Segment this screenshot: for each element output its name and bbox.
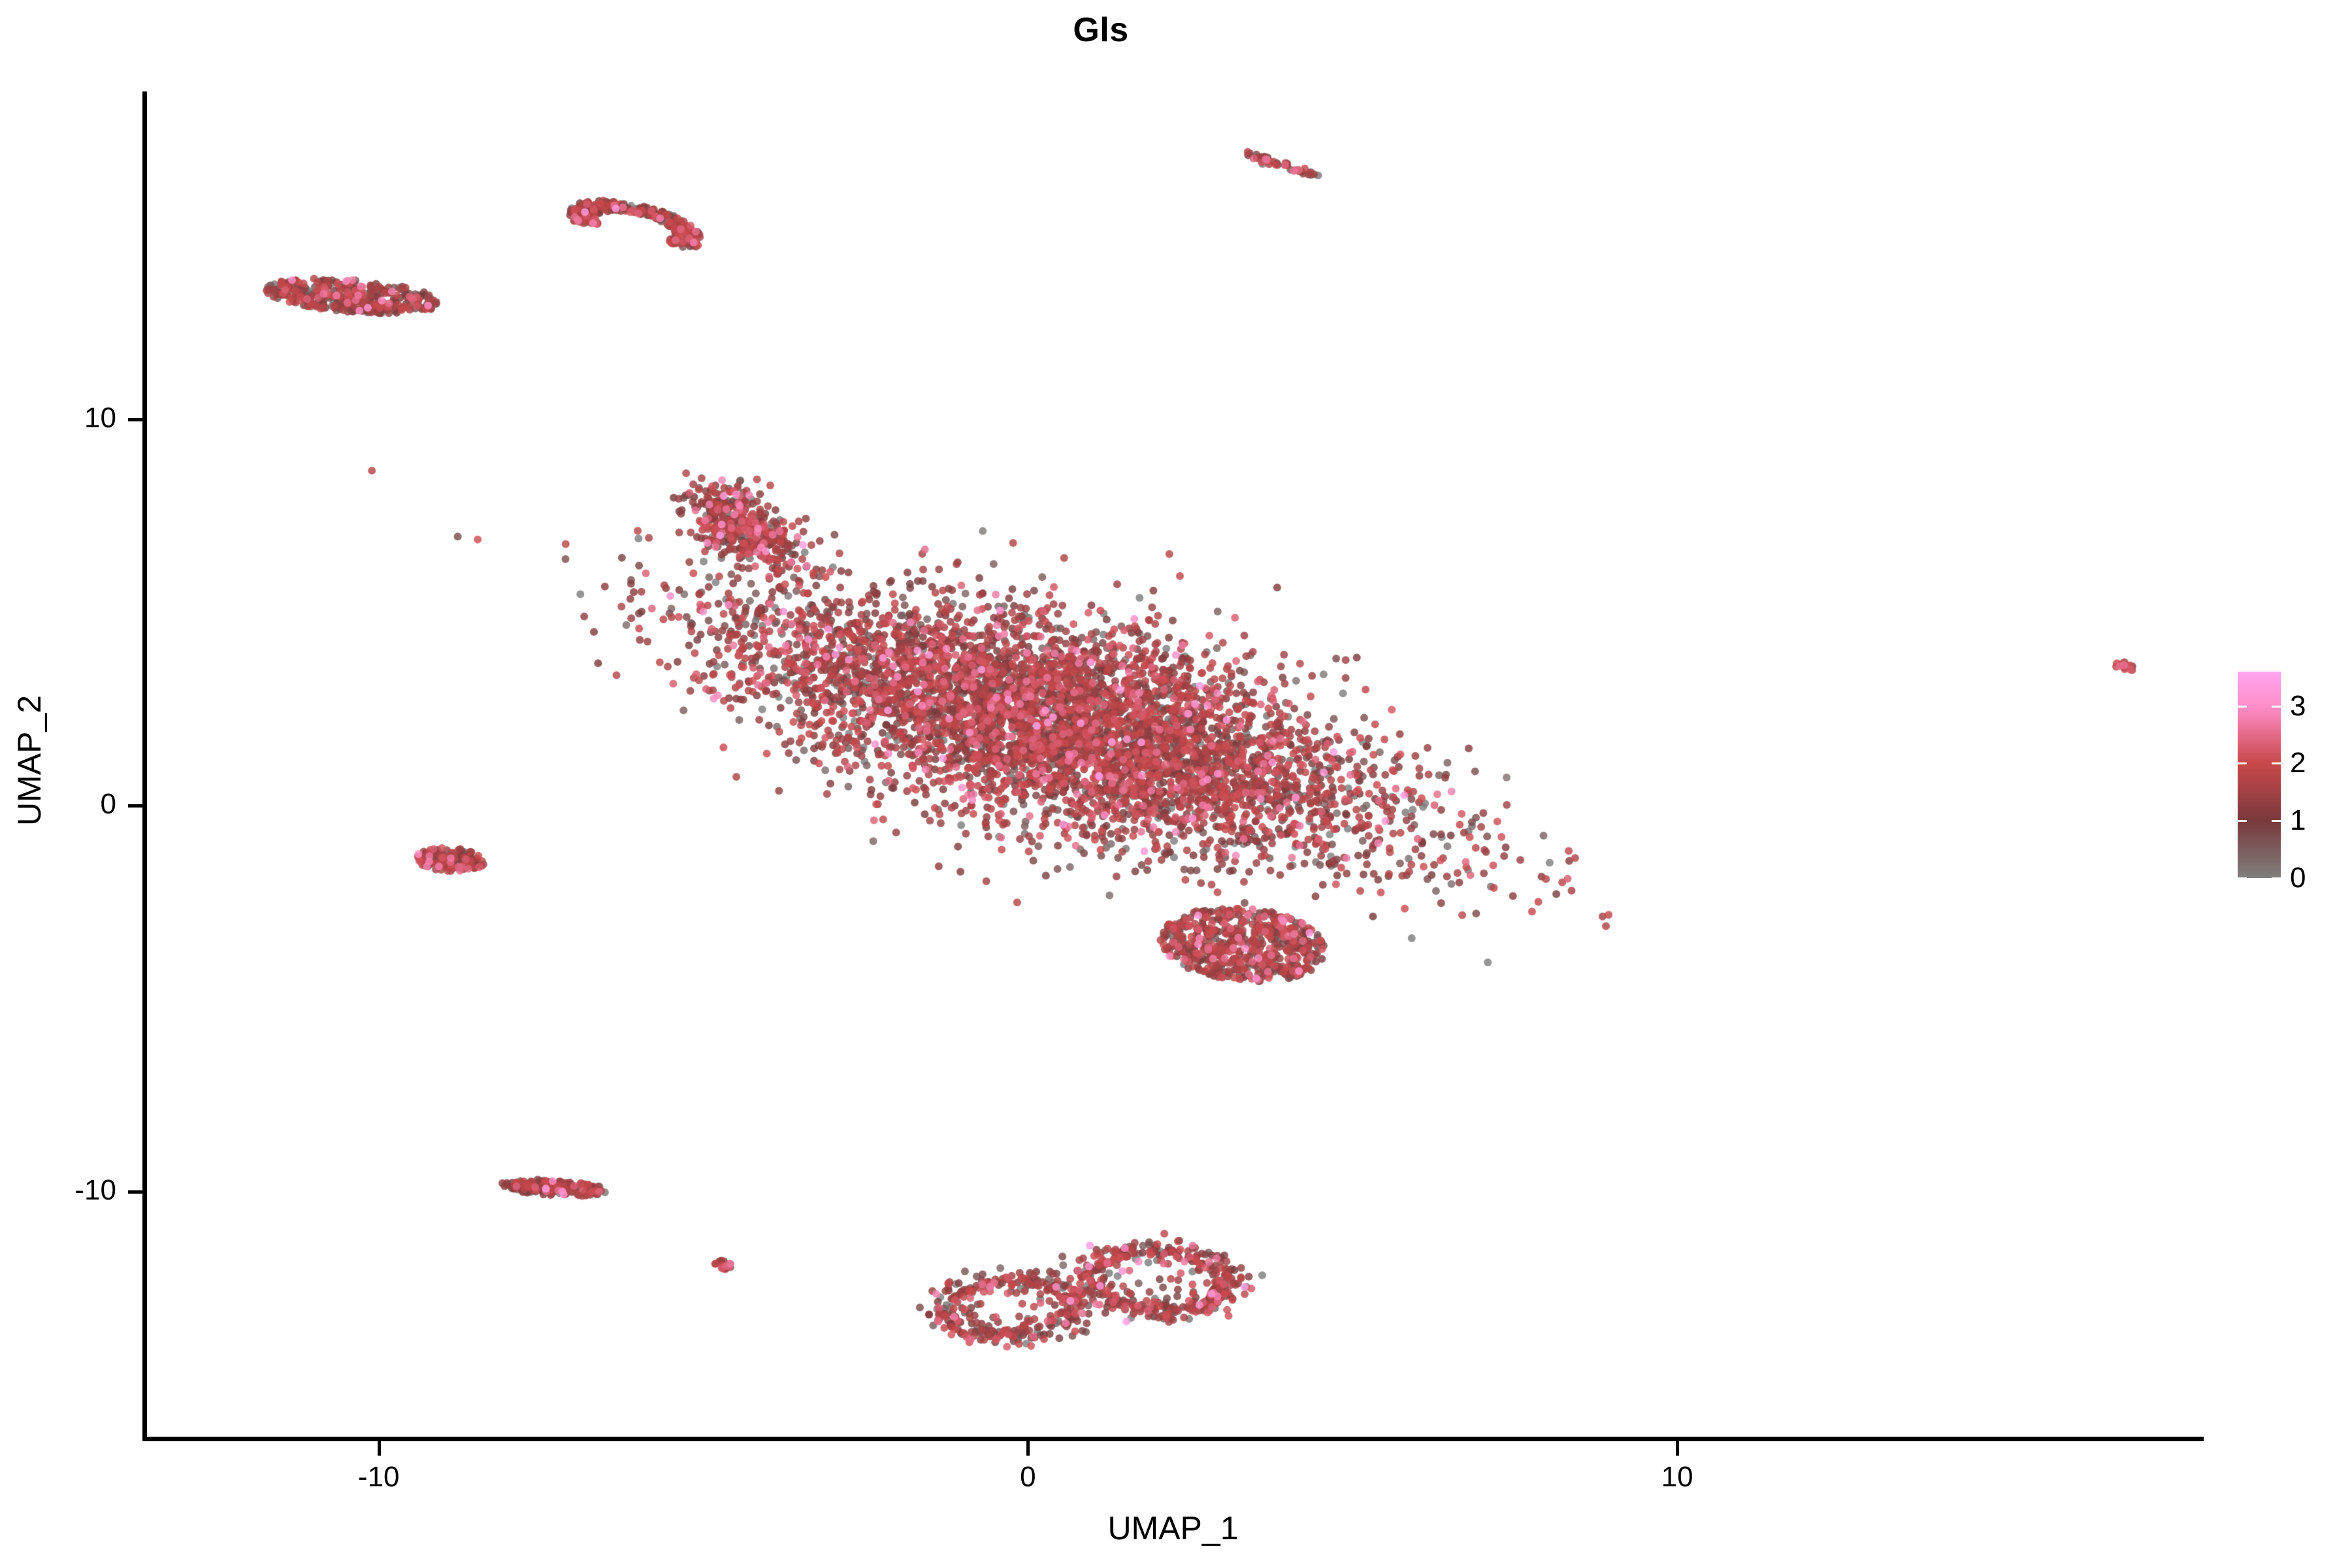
y-axis-title: UMAP_2: [10, 499, 48, 1022]
feature-plot: Gls -10010-10010 UMAP_1 UMAP_2 0123: [0, 0, 2352, 1568]
scatter-plot-canvas: [145, 91, 2203, 1439]
x-axis-line: [142, 1437, 2204, 1441]
x-axis-title: UMAP_1: [142, 1509, 2204, 1547]
legend-tick-label: 1: [2290, 806, 2306, 835]
x-tick-mark: [1676, 1441, 1679, 1456]
legend-colorbar: [2238, 672, 2281, 878]
page-title: Gls: [0, 12, 2202, 49]
y-tick-label: 10: [0, 402, 116, 434]
y-tick-mark: [128, 418, 142, 421]
legend-tick-label: 0: [2290, 864, 2306, 892]
x-tick-mark: [378, 1441, 381, 1456]
y-axis-line: [142, 91, 147, 1441]
legend-tick-label: 2: [2290, 749, 2306, 777]
x-tick-label: 10: [1605, 1461, 1749, 1494]
x-tick-mark: [1026, 1441, 1030, 1456]
legend-tick-label: 3: [2290, 692, 2306, 721]
x-tick-label: 0: [956, 1461, 1100, 1494]
x-tick-label: -10: [307, 1461, 451, 1494]
y-tick-mark: [128, 1190, 142, 1194]
y-tick-mark: [128, 804, 142, 808]
y-tick-label: -10: [0, 1174, 116, 1207]
color-legend: 0123: [2238, 672, 2336, 881]
